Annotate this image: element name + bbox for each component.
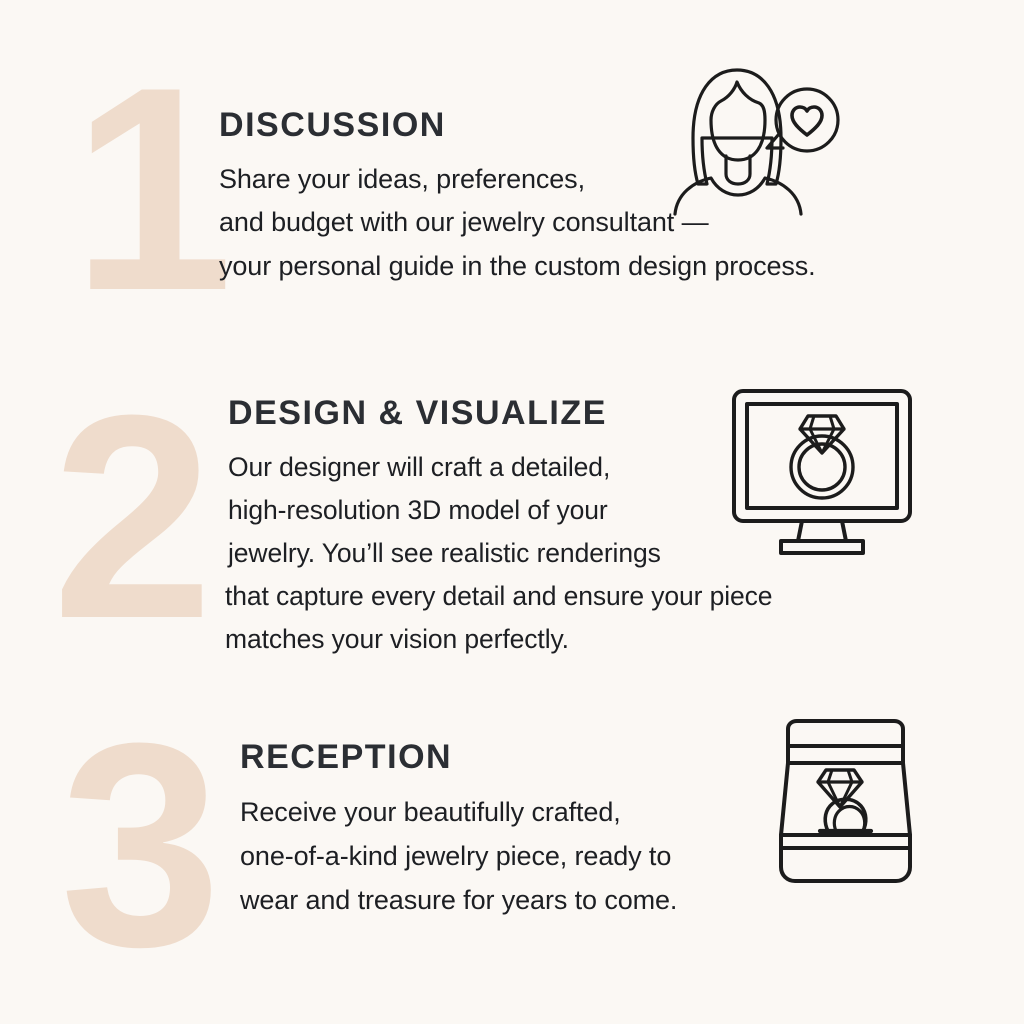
step-body-line: your personal guide in the custom design…: [219, 245, 919, 289]
infographic-canvas: 1 DISCUSSION Share your ideas, preferenc…: [0, 0, 1024, 1024]
step-numeral-1: 1: [72, 44, 227, 334]
monitor-diamond-ring-icon: [722, 385, 922, 560]
step-body-line: that capture every detail and ensure you…: [225, 575, 888, 618]
step-numeral-3: 3: [60, 700, 215, 990]
woman-consultant-speech-heart-icon: [655, 56, 855, 221]
step-numeral-2: 2: [52, 372, 207, 662]
ring-box-diamond-icon: [758, 715, 933, 890]
step-body-line: matches your vision perfectly.: [225, 618, 888, 661]
